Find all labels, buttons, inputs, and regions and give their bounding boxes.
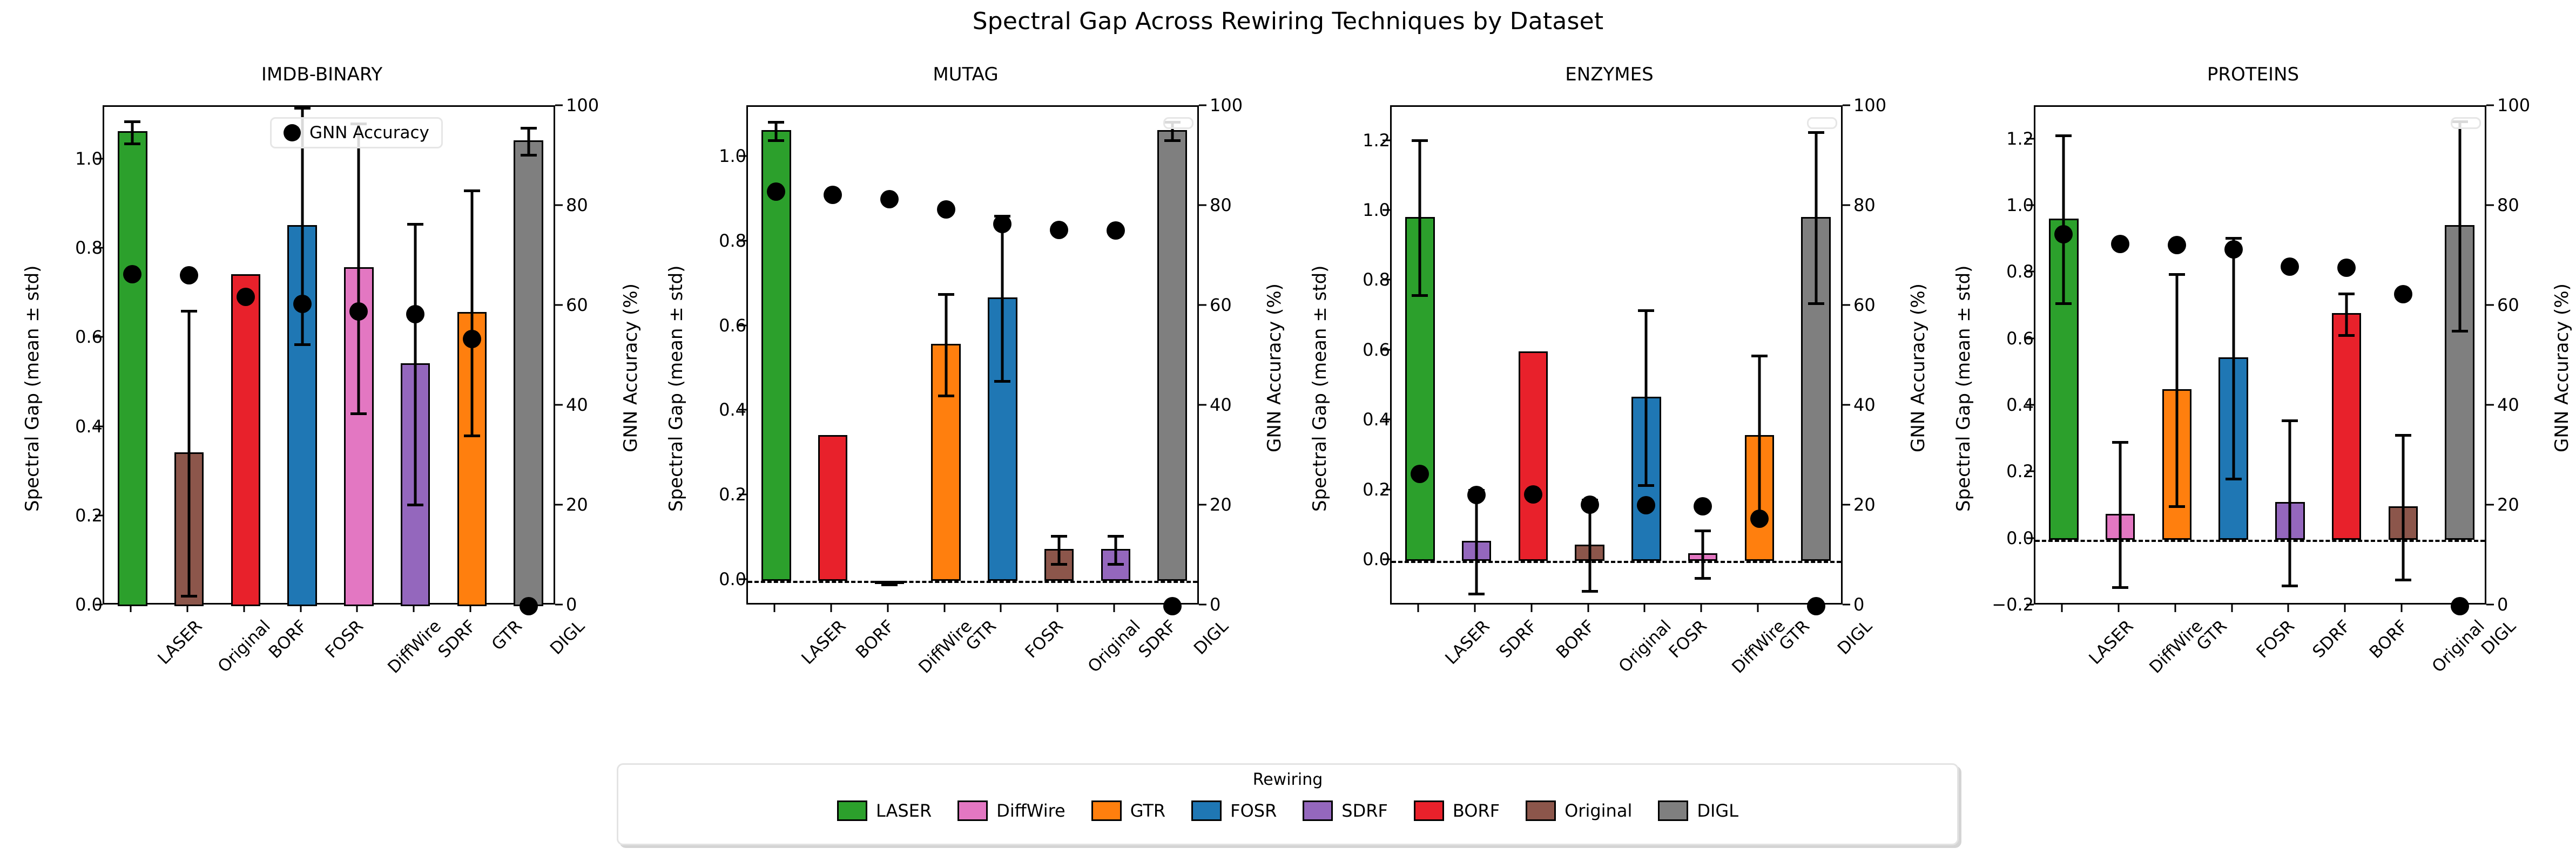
x-axis-tick <box>1113 605 1115 612</box>
x-axis-tick-label: Original <box>1615 616 1675 676</box>
bar <box>118 131 147 606</box>
x-axis-tick <box>1644 605 1646 612</box>
error-bar-cap <box>1582 590 1598 593</box>
gnn-accuracy-marker <box>993 215 1011 233</box>
figure: Spectral Gap Across Rewiring Techniques … <box>0 0 2576 855</box>
error-bar-cap <box>2282 585 2298 587</box>
legend-item-label: BORF <box>1453 800 1500 821</box>
error-bar-cap <box>2395 579 2411 581</box>
x-axis-tick <box>1170 605 1171 612</box>
zero-baseline <box>748 581 1197 583</box>
gnn-accuracy-marker <box>2111 235 2129 253</box>
y-axis-tick <box>2026 205 2034 206</box>
bar <box>1157 130 1186 581</box>
error-bar-cap <box>881 583 898 586</box>
error-bar <box>2345 293 2348 334</box>
x-axis-tick-label: SDRF <box>434 616 480 662</box>
y-axis-tick <box>1383 209 1390 211</box>
error-bar-cap <box>181 310 197 313</box>
x-axis-tick <box>1757 605 1758 612</box>
gnn-accuracy-marker <box>2281 257 2299 276</box>
legend-color-swatch <box>1658 800 1688 821</box>
gnn-accuracy-marker <box>824 186 842 204</box>
gnn-accuracy-marker <box>2337 259 2356 277</box>
legend-item-label: SDRF <box>1341 800 1388 821</box>
x-axis-tick-label: DIGL <box>1190 616 1232 659</box>
error-bar-cap <box>1808 302 1824 305</box>
y-axis-tick <box>2026 138 2034 139</box>
x-axis-tick <box>526 605 528 612</box>
x-axis-tick <box>2400 605 2402 612</box>
gnn-accuracy-marker <box>1163 597 1182 615</box>
legend-item-label: DIGL <box>1697 800 1738 821</box>
error-bar-cap <box>2226 478 2242 480</box>
y2-axis-tick <box>555 404 563 406</box>
gnn-accuracy-marker <box>1581 496 1599 514</box>
rewiring-legend: Rewiring LASERDiffWireGTRFOSRSDRFBORFOri… <box>617 763 1959 845</box>
gnn-accuracy-marker <box>1050 221 1068 239</box>
error-bar-cap <box>1695 577 1711 580</box>
bar <box>231 274 260 606</box>
x-axis-tick-label: LASER <box>798 616 850 668</box>
legend-item-label: FOSR <box>1230 800 1277 821</box>
gnn-accuracy-marker <box>1411 465 1429 483</box>
y-axis-label: Spectral Gap (mean ± std) <box>1309 265 1331 511</box>
legend-color-swatch <box>957 800 988 821</box>
x-axis-tick <box>2118 605 2120 612</box>
y-axis-tick <box>2026 471 2034 472</box>
gnn-accuracy-legend <box>1807 117 1837 129</box>
y-axis-tick <box>95 247 103 249</box>
x-axis-tick-label: BORF <box>2366 616 2412 662</box>
y2-axis-tick <box>555 604 563 606</box>
error-bar <box>945 293 947 395</box>
panel-title: MUTAG <box>644 64 1287 85</box>
x-axis-tick <box>1474 605 1476 612</box>
legend-item[interactable]: FOSR <box>1191 800 1277 821</box>
y-axis-tick <box>2026 537 2034 539</box>
y2-axis-tick <box>1843 604 1850 606</box>
error-bar <box>1419 139 1421 294</box>
y2-axis-tick <box>555 304 563 306</box>
x-axis-tick <box>1701 605 1702 612</box>
error-bar-cap <box>938 293 954 296</box>
error-bar-cap <box>294 343 311 346</box>
y-axis-tick <box>2026 337 2034 339</box>
bar <box>818 435 847 581</box>
error-bar-cap <box>407 504 423 506</box>
y2-axis-tick <box>1843 304 1850 306</box>
x-axis-tick <box>2061 605 2063 612</box>
gnn-accuracy-marker <box>293 295 312 313</box>
y2-axis-tick <box>2486 205 2494 206</box>
legend-color-swatch <box>1303 800 1333 821</box>
zero-baseline <box>2035 540 2485 542</box>
legend-color-swatch <box>1091 800 1122 821</box>
y-axis-tick <box>2026 604 2034 606</box>
x-axis-tick-label: FOSR <box>321 616 367 662</box>
y2-axis-tick <box>1199 205 1206 206</box>
gnn-accuracy-legend <box>2451 117 2481 129</box>
error-bar <box>2232 237 2235 478</box>
error-bar-cap <box>1164 139 1181 142</box>
y2-axis-tick <box>1199 404 1206 406</box>
y2-axis-tick <box>2486 504 2494 506</box>
legend-title: Rewiring <box>618 770 1957 789</box>
y2-axis-tick <box>555 504 563 506</box>
gnn-accuracy-marker <box>237 288 255 306</box>
gnn-accuracy-marker <box>767 182 785 201</box>
error-bar-cap <box>768 121 784 124</box>
error-bar <box>527 127 530 154</box>
bar <box>1519 351 1548 561</box>
legend-item-label: LASER <box>876 800 932 821</box>
y-axis-tick <box>95 425 103 427</box>
gnn-accuracy-marker <box>1467 486 1486 504</box>
error-bar <box>2402 434 2404 579</box>
x-axis-tick <box>2457 605 2459 612</box>
legend-item[interactable]: LASER <box>837 800 932 821</box>
gnn-accuracy-marker <box>937 200 955 219</box>
error-bar <box>2289 419 2291 585</box>
x-axis-tick <box>413 605 415 612</box>
y2-axis-tick <box>2486 604 2494 606</box>
gnn-accuracy-marker <box>463 330 481 348</box>
legend-color-swatch <box>1191 800 1222 821</box>
x-axis-tick-label: DiffWire <box>915 616 976 677</box>
error-bar-cap <box>407 223 423 226</box>
x-axis-tick <box>1057 605 1058 612</box>
error-bar-cap <box>1412 139 1428 142</box>
error-bar-cap <box>2112 586 2128 589</box>
error-bar-cap <box>2226 237 2242 240</box>
gnn-accuracy-marker <box>1637 496 1655 514</box>
bar <box>514 140 543 606</box>
x-axis-tick-label: LASER <box>1442 616 1494 668</box>
y2-axis-tick <box>2486 105 2494 106</box>
x-axis-tick-label: DIGL <box>1833 616 1876 659</box>
gnn-accuracy-marker <box>406 305 424 323</box>
x-axis-tick-label: Original <box>1084 616 1144 676</box>
y2-axis-tick <box>2486 304 2494 306</box>
gnn-accuracy-marker <box>1694 497 1712 515</box>
error-bar <box>2062 134 2065 302</box>
x-axis-tick-label: FOSR <box>1022 616 1067 662</box>
y-axis-tick <box>1383 419 1390 420</box>
legend-item[interactable]: BORF <box>1414 800 1500 821</box>
y-axis-tick <box>2026 404 2034 406</box>
error-bar-cap <box>1808 131 1824 134</box>
x-axis-tick-label: FOSR <box>1665 616 1711 662</box>
gnn-accuracy-legend <box>1163 117 1193 129</box>
x-axis-tick <box>356 605 358 612</box>
y-axis-tick <box>1383 279 1390 281</box>
bar <box>2332 313 2361 539</box>
y-axis-tick <box>1383 488 1390 490</box>
x-axis-tick-label: SDRF <box>2309 616 2355 662</box>
x-axis-tick <box>2344 605 2346 612</box>
error-bar-cap <box>2338 293 2355 295</box>
error-bar-cap <box>124 142 140 145</box>
error-bar-cap <box>2338 334 2355 337</box>
y2-axis-label: GNN Accuracy (%) <box>1264 283 1285 452</box>
error-bar <box>2458 120 2461 330</box>
error-bar <box>775 121 778 139</box>
error-bar-cap <box>181 595 197 598</box>
x-axis-tick <box>831 605 832 612</box>
x-axis-tick-label: BORF <box>265 616 311 662</box>
x-axis-tick-label: BORF <box>1553 616 1599 662</box>
y-axis-tick <box>2026 271 2034 273</box>
y2-axis-tick <box>1199 604 1206 606</box>
error-bar <box>131 120 134 142</box>
error-bar-cap <box>521 127 537 130</box>
panel-mutag: MUTAG0.00.20.40.60.81.0020406080100Spect… <box>644 0 1287 855</box>
legend-color-swatch <box>837 800 867 821</box>
panel-title: ENZYMES <box>1287 64 1931 85</box>
y-axis-label: Spectral Gap (mean ± std) <box>1953 265 1974 511</box>
x-axis-tick-label: Original <box>214 616 274 676</box>
error-bar-cap <box>1108 535 1124 538</box>
y-axis-tick <box>739 409 746 411</box>
panel-proteins: PROTEINS−0.20.00.20.40.60.81.01.20204060… <box>1931 0 2575 855</box>
error-bar-cap <box>1638 309 1654 312</box>
y2-axis-tick <box>1199 504 1206 506</box>
gnn-accuracy-marker <box>123 265 141 283</box>
gnn-accuracy-marker <box>880 190 899 208</box>
y2-axis-tick <box>1843 105 1850 106</box>
legend-items: LASERDiffWireGTRFOSRSDRFBORFOriginalDIGL <box>618 800 1957 821</box>
y-axis-tick <box>95 336 103 338</box>
error-bar <box>358 123 360 412</box>
y2-axis-tick <box>1199 105 1206 106</box>
error-bar <box>2175 273 2178 505</box>
gnn-accuracy-marker <box>349 302 368 321</box>
y2-axis-label: GNN Accuracy (%) <box>1907 283 1929 452</box>
plot-area <box>103 105 555 605</box>
error-bar <box>1475 489 1478 592</box>
x-axis-tick <box>243 605 245 612</box>
x-axis-tick <box>130 605 132 612</box>
error-bar-cap <box>1051 535 1067 538</box>
x-axis-tick-label: DIGL <box>546 616 588 659</box>
gnn-accuracy-marker <box>1750 510 1769 528</box>
y2-axis-tick <box>1843 205 1850 206</box>
y-axis-tick <box>95 514 103 516</box>
gnn-accuracy-dot-icon <box>284 124 301 141</box>
y2-axis-tick <box>1199 304 1206 306</box>
legend-item[interactable]: GTR <box>1091 800 1165 821</box>
gnn-accuracy-marker <box>1807 597 1825 615</box>
error-bar-cap <box>1695 530 1711 532</box>
y-axis-tick <box>739 240 746 241</box>
x-axis-tick <box>1587 605 1589 612</box>
error-bar-cap <box>1751 355 1768 357</box>
error-bar-cap <box>2395 434 2411 437</box>
legend-item-label: Original <box>1565 800 1632 821</box>
error-bar-cap <box>464 435 480 437</box>
legend-item[interactable]: DIGL <box>1658 800 1738 821</box>
x-axis-tick <box>1813 605 1815 612</box>
error-bar-cap <box>994 380 1010 383</box>
error-bar <box>1001 215 1004 380</box>
error-bar-cap <box>1051 563 1067 566</box>
error-bar <box>188 310 191 595</box>
error-bar-cap <box>938 395 954 397</box>
y2-axis-tick <box>1843 404 1850 406</box>
y2-axis-tick <box>1843 504 1850 506</box>
error-bar <box>2119 441 2122 586</box>
legend-color-swatch <box>1526 800 1556 821</box>
x-axis-tick <box>187 605 188 612</box>
gnn-accuracy-marker <box>1524 485 1542 504</box>
legend-item-label: GTR <box>1130 800 1165 821</box>
y-axis-tick <box>1383 349 1390 350</box>
plot-area <box>1390 105 1843 605</box>
error-bar-cap <box>1468 593 1485 595</box>
error-bar-cap <box>2112 441 2128 444</box>
gnn-accuracy-marker <box>2168 236 2186 254</box>
x-axis-tick <box>1000 605 1002 612</box>
error-bar-cap <box>768 139 784 142</box>
gnn-accuracy-marker <box>2054 225 2073 243</box>
y-axis-tick <box>739 324 746 326</box>
error-bar <box>414 223 417 504</box>
x-axis-tick-label: LASER <box>2086 616 2137 668</box>
x-axis-tick <box>2288 605 2289 612</box>
x-axis-tick <box>300 605 301 612</box>
plot-area <box>2034 105 2486 605</box>
legend-color-swatch <box>1414 800 1444 821</box>
y2-axis-label: GNN Accuracy (%) <box>2551 283 2573 452</box>
error-bar-cap <box>350 412 367 415</box>
error-bar-cap <box>2282 419 2298 422</box>
legend-item[interactable]: SDRF <box>1303 800 1388 821</box>
error-bar-cap <box>2169 273 2185 276</box>
error-bar-cap <box>521 154 537 157</box>
y2-axis-tick <box>555 105 563 106</box>
panel-title: IMDB-BINARY <box>0 64 644 85</box>
gnn-accuracy-marker <box>180 266 198 284</box>
x-axis-tick <box>469 605 471 612</box>
gnn-accuracy-legend-label: GNN Accuracy <box>309 123 429 142</box>
panel-enzymes: ENZYMES0.00.20.40.60.81.01.2020406080100… <box>1287 0 1931 855</box>
gnn-accuracy-marker <box>520 597 538 615</box>
y-axis-label: Spectral Gap (mean ± std) <box>22 265 43 511</box>
x-axis-tick <box>1418 605 1419 612</box>
x-axis-tick-label: DiffWire <box>1728 616 1789 677</box>
y2-axis-tick <box>2486 404 2494 406</box>
x-axis-tick <box>1530 605 1532 612</box>
error-bar-cap <box>124 120 140 123</box>
error-bar <box>1702 530 1704 577</box>
error-bar-cap <box>1412 294 1428 297</box>
x-axis-tick-label: DIGL <box>2477 616 2519 659</box>
panel-imdb-binary: IMDB-BINARY0.00.20.40.60.81.002040608010… <box>0 0 644 855</box>
error-bar-cap <box>464 189 480 192</box>
panel-title: PROTEINS <box>1931 64 2575 85</box>
y-axis-tick <box>95 158 103 160</box>
legend-item[interactable]: DiffWire <box>957 800 1066 821</box>
error-bar <box>1114 535 1117 563</box>
error-bar <box>1758 355 1761 515</box>
x-axis-tick <box>2231 605 2233 612</box>
x-axis-tick-label: LASER <box>154 616 206 668</box>
error-bar-cap <box>1638 484 1654 487</box>
plot-area <box>746 105 1199 605</box>
error-bar-cap <box>2452 330 2468 332</box>
x-axis-tick <box>943 605 945 612</box>
y-axis-label: Spectral Gap (mean ± std) <box>665 265 687 511</box>
error-bar <box>1058 535 1061 563</box>
y-axis-tick <box>739 494 746 496</box>
y2-axis-tick <box>555 205 563 206</box>
gnn-accuracy-marker <box>2224 240 2243 259</box>
error-bar-cap <box>2055 134 2072 137</box>
legend-item[interactable]: Original <box>1526 800 1632 821</box>
legend-item-label: DiffWire <box>996 800 1066 821</box>
x-axis-tick-label: SDRF <box>1495 616 1541 662</box>
gnn-accuracy-marker <box>1107 221 1125 240</box>
x-axis-tick <box>2174 605 2176 612</box>
zero-baseline <box>1392 561 1841 563</box>
y2-axis-label: GNN Accuracy (%) <box>620 283 642 452</box>
error-bar <box>470 189 473 435</box>
y-axis-tick <box>95 604 103 606</box>
gnn-accuracy-marker <box>2394 285 2412 303</box>
y-axis-tick <box>739 155 746 157</box>
gnn-accuracy-marker <box>2451 597 2469 615</box>
y-axis-tick <box>1383 139 1390 141</box>
x-axis-tick <box>887 605 888 612</box>
x-axis-tick-label: BORF <box>852 616 898 662</box>
x-axis-tick-label: SDRF <box>1135 616 1180 662</box>
error-bar-cap <box>2169 505 2185 508</box>
x-axis-tick <box>774 605 776 612</box>
error-bar-cap <box>294 107 311 110</box>
y-axis-tick <box>739 578 746 580</box>
x-axis-tick-label: DiffWire <box>2146 616 2207 677</box>
error-bar <box>1645 309 1648 484</box>
x-axis-tick-label: FOSR <box>2253 616 2298 662</box>
error-bar <box>1815 131 1817 302</box>
gnn-accuracy-legend: GNN Accuracy <box>270 117 443 148</box>
x-axis-tick-label: GTR <box>488 616 525 654</box>
y-axis-tick <box>1383 558 1390 560</box>
error-bar-cap <box>1108 563 1124 566</box>
error-bar-cap <box>2055 302 2072 305</box>
